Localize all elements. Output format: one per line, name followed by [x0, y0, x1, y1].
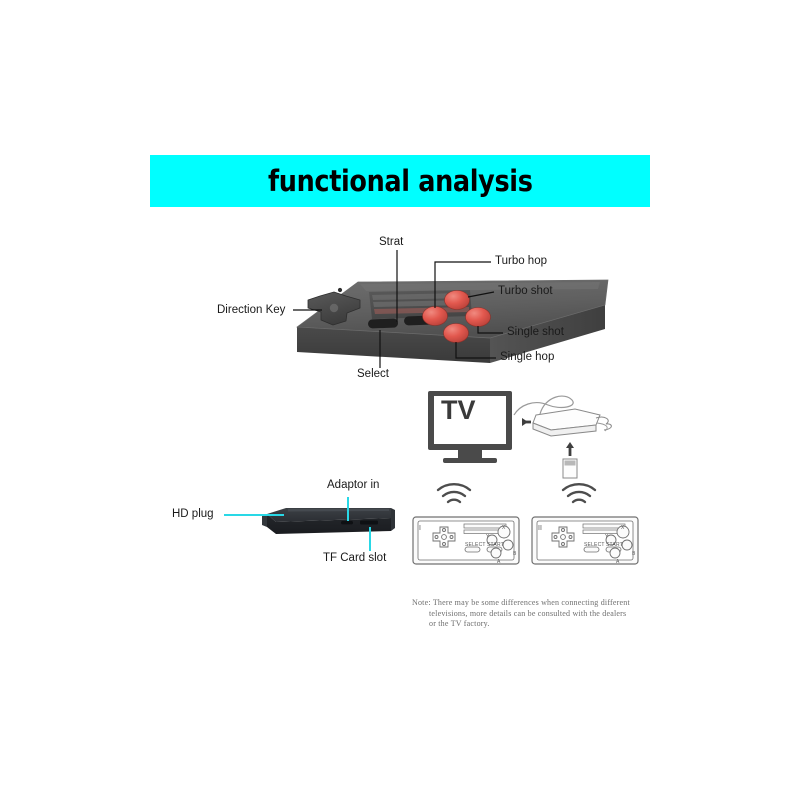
- tf-card: [563, 459, 577, 478]
- label-start: Strat: [379, 236, 403, 249]
- gamepad-1-button-b: B: [513, 548, 516, 561]
- note-line-1: Note: There may be some differences when…: [412, 598, 630, 607]
- page-title: functional analysis: [268, 164, 533, 198]
- leader-adaptor-in: [347, 497, 349, 521]
- select-button: [368, 318, 398, 328]
- single-hop-button: [444, 324, 469, 343]
- wifi-icon-1: [438, 484, 470, 502]
- tf-card-insert: [563, 442, 577, 478]
- arrow-console-to-tv: [522, 418, 531, 426]
- label-tf-card-slot: TF Card slot: [323, 552, 386, 565]
- label-single-shot: Single shot: [507, 326, 564, 339]
- label-single-hop: Single hop: [500, 351, 554, 364]
- controller-center-panel: [369, 290, 472, 319]
- gamepad-2-button-b: B: [632, 548, 635, 561]
- turbo-hop-button: [423, 307, 448, 326]
- single-shot-button: [466, 308, 491, 327]
- note-line-3: or the TV factory.: [412, 619, 662, 630]
- led-indicator: [338, 288, 342, 292]
- adaptor-in-port: [341, 521, 353, 524]
- controller-leader-lines: [293, 250, 503, 368]
- label-select: Select: [357, 368, 389, 381]
- controller-illustration: [0, 0, 800, 800]
- turbo-shot-button: [445, 291, 470, 310]
- note-line-2: televisions, more details can be consult…: [412, 609, 662, 620]
- label-direction-key: Direction Key: [217, 304, 285, 317]
- wireless-gamepads-illustration: [0, 0, 800, 800]
- controller-body: [297, 280, 608, 363]
- gamepad-1-button-a: A: [497, 556, 500, 569]
- tv-hookup-illustration: [0, 0, 800, 800]
- label-hd-plug: HD plug: [172, 508, 214, 521]
- hdmi-cable: [514, 396, 573, 415]
- gamepad-2-start-label: START: [606, 539, 623, 552]
- gamepad-2-button-a: A: [616, 556, 619, 569]
- title-banner: functional analysis: [150, 155, 650, 207]
- gamepad-2-button-x: X: [621, 522, 624, 535]
- gamepad-2-player-mark: II: [538, 522, 542, 535]
- gamepad-2-button-y: Y: [605, 531, 608, 544]
- gamepad-1-button-x: X: [502, 522, 505, 535]
- console-box-small: [533, 409, 611, 436]
- note-block: Note: There may be some differences when…: [412, 598, 662, 630]
- label-adaptor-in: Adaptor in: [327, 479, 379, 492]
- select-start-buttons: [368, 315, 434, 328]
- start-button: [404, 315, 434, 325]
- tv-screen-text: TV: [441, 404, 476, 417]
- label-turbo-hop: Turbo hop: [495, 255, 547, 268]
- tv-stand-base: [443, 458, 497, 463]
- gamepad-1-player-mark: I: [419, 522, 421, 535]
- d-pad: [308, 292, 360, 325]
- tv-stand-neck: [458, 450, 482, 459]
- gamepad-1-select-label: SELECT: [465, 539, 486, 552]
- infographic-page: functional analysis: [0, 0, 800, 800]
- gamepad-2-select-label: SELECT: [584, 539, 605, 552]
- leader-hd-plug: [224, 514, 284, 516]
- arrow-card-up: [566, 442, 574, 456]
- label-turbo-shot: Turbo shot: [498, 285, 553, 298]
- tf-card-slot-port: [360, 521, 378, 525]
- gamepad-1-button-y: Y: [486, 531, 489, 544]
- action-buttons: [423, 291, 491, 343]
- leader-tf-card-slot: [369, 527, 371, 551]
- console-device-body: [262, 508, 395, 534]
- wifi-icon-2: [563, 484, 595, 502]
- gamepad-1-start-label: START: [487, 539, 504, 552]
- console-device-illustration: [0, 0, 800, 800]
